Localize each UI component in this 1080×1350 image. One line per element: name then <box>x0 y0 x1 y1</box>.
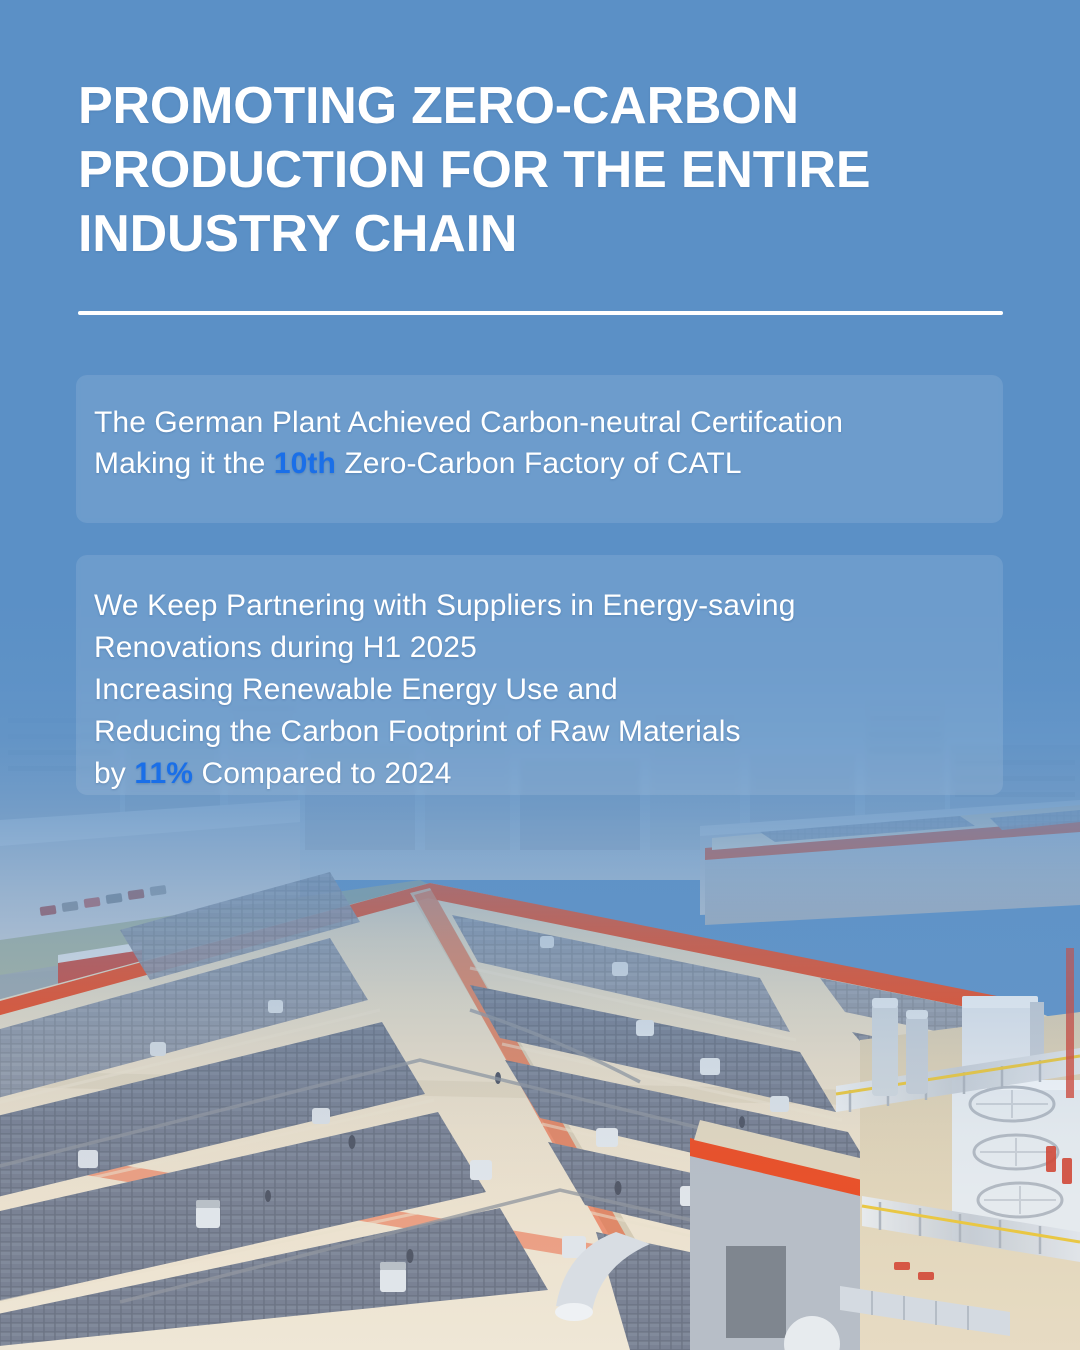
poster-content: PROMOTING ZERO-CARBON PRODUCTION FOR THE… <box>0 0 1080 1350</box>
card-line-segment: Making it the <box>94 447 274 480</box>
card-line: The German Plant Achieved Carbon-neutral… <box>94 402 843 443</box>
card-line: Making it the 10th Zero-Carbon Factory o… <box>94 443 843 484</box>
german-plant-card-text: The German Plant Achieved Carbon-neutral… <box>94 402 843 484</box>
card-line-segment: Compared to 2024 <box>193 757 452 790</box>
supplier-partnership-card: We Keep Partnering with Suppliers in Ene… <box>76 555 1003 795</box>
card-line: We Keep Partnering with Suppliers in Ene… <box>94 585 795 627</box>
card-line: Reducing the Carbon Footprint of Raw Mat… <box>94 711 795 753</box>
card-line-segment: by <box>94 757 134 790</box>
card-line: by 11% Compared to 2024 <box>94 753 795 795</box>
page-title: PROMOTING ZERO-CARBON PRODUCTION FOR THE… <box>78 74 1018 266</box>
accent-value-10th: 10th <box>274 447 336 480</box>
card-line: Renovations during H1 2025 <box>94 627 795 669</box>
title-divider <box>78 311 1003 315</box>
infographic-poster: PROMOTING ZERO-CARBON PRODUCTION FOR THE… <box>0 0 1080 1350</box>
accent-value-11pct: 11% <box>134 757 193 790</box>
german-plant-card: The German Plant Achieved Carbon-neutral… <box>76 375 1003 523</box>
card-line: Increasing Renewable Energy Use and <box>94 669 795 711</box>
supplier-partnership-card-text: We Keep Partnering with Suppliers in Ene… <box>94 585 795 795</box>
card-line-segment: Zero-Carbon Factory of CATL <box>336 447 742 480</box>
